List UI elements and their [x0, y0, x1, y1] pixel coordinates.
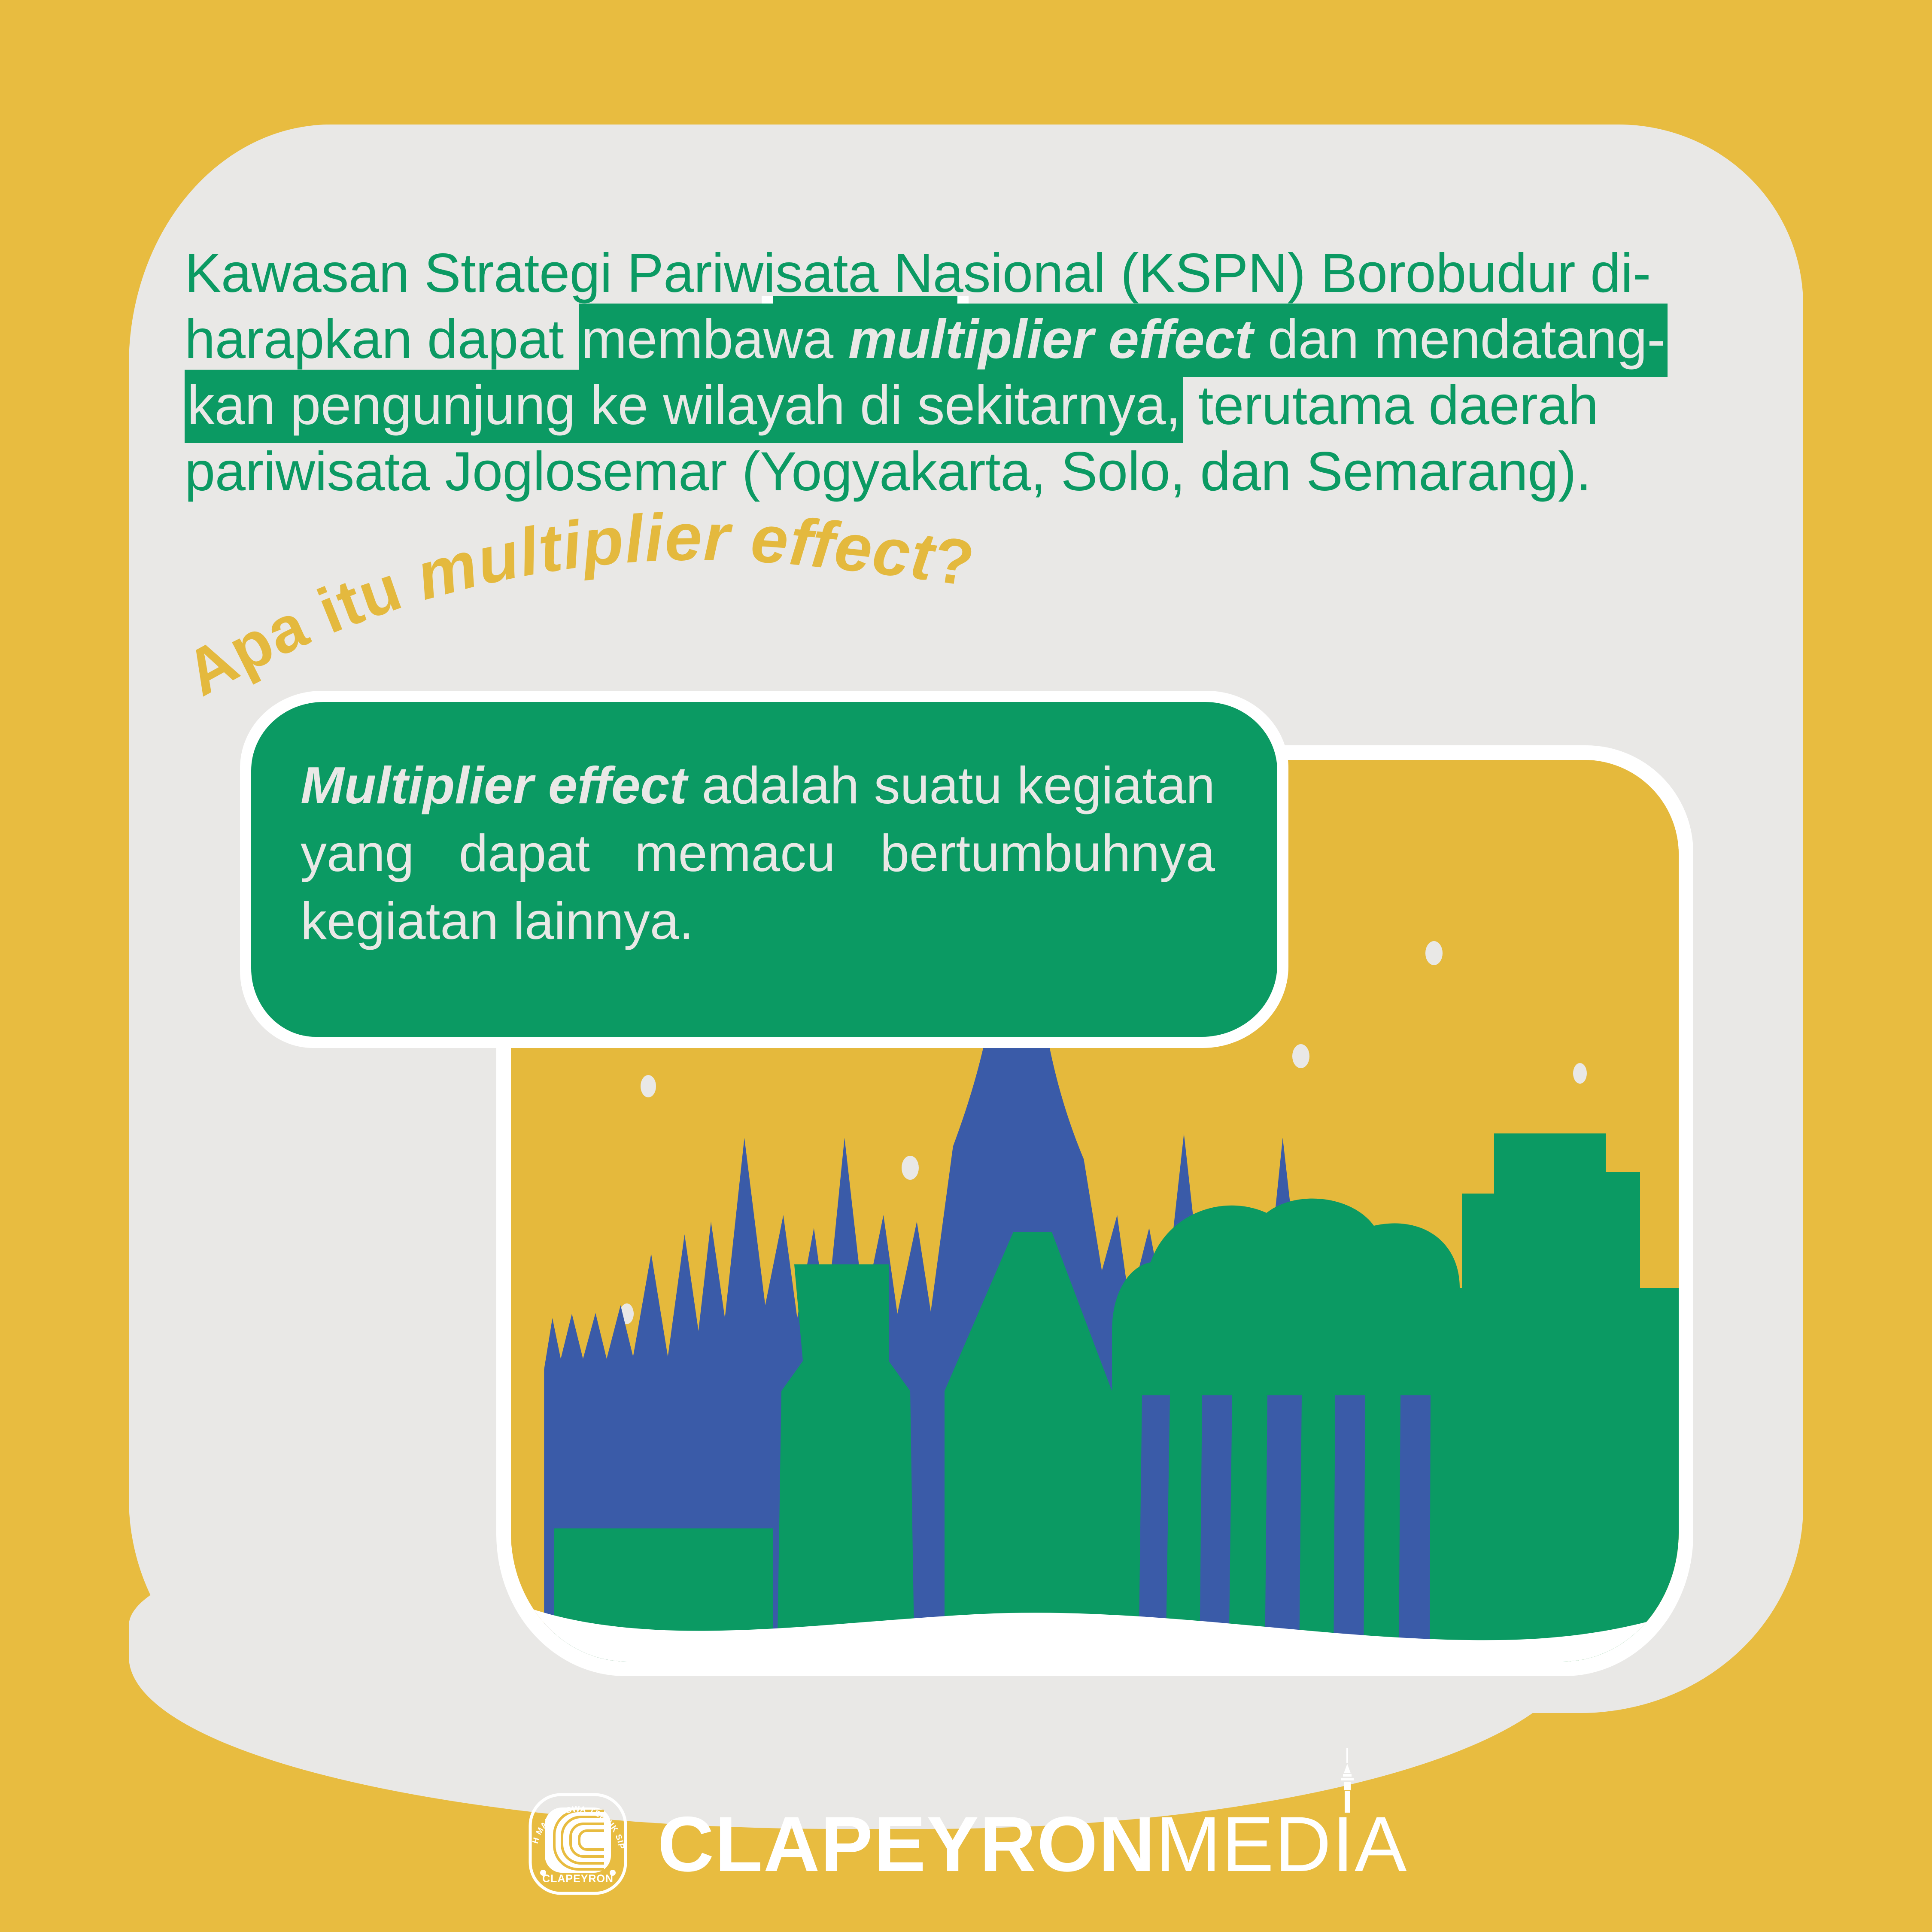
paragraph-line-2-plain: harapkan dapat — [185, 309, 579, 370]
definition-term: Multiplier effect — [301, 756, 687, 814]
highlight-term-italic: multiplier effect — [848, 309, 1253, 370]
paragraph-line-1: Kawasan Strategi Pariwisata Nasional (KS… — [185, 240, 1765, 307]
paragraph-line-4-text: pariwisata Joglosemar (Yogyakarta, Solo,… — [185, 441, 1591, 502]
paragraph-line-4: pariwisata Joglosemar (Yogyakarta, Solo,… — [185, 439, 1765, 505]
paragraph-line-1-text: Kawasan Strategi Pariwisata Nasional (KS… — [185, 243, 1651, 304]
highlight-text-b: dan mendatang- — [1253, 309, 1665, 370]
paragraph-line-3-highlight: kan pengunjung ke wilayah di sekitarnya, — [185, 370, 1183, 443]
clapeyron-badge-icon: MAJALAH MAHASISWA TEKNIK SIPIL UGM CLAPE… — [524, 1790, 632, 1898]
badge-dot-left — [540, 1870, 546, 1876]
badge-dot-right — [610, 1870, 616, 1876]
clapeyron-media-wordmark: CLAPEYRONMEDIA — [657, 1799, 1407, 1889]
intro-paragraph: Kawasan Strategi Pariwisata Nasional (KS… — [185, 240, 1765, 505]
star-dot — [1292, 1044, 1309, 1068]
wordmark-media: MEDIA — [1156, 1799, 1407, 1889]
paragraph-line-3: kan pengunjung ke wilayah di sekitarnya,… — [185, 373, 1765, 439]
star-dot — [641, 1075, 656, 1097]
star-dot — [1425, 941, 1443, 965]
paragraph-line-3-plain: terutama daerah — [1183, 375, 1598, 436]
star-dot — [1573, 1063, 1587, 1084]
infographic-poster: Kawasan Strategi Pariwisata Nasional (KS… — [0, 0, 1932, 1932]
paragraph-line-2: harapkan dapat membawa multiplier effect… — [185, 307, 1765, 373]
stupa-tower-icon — [1337, 1748, 1357, 1813]
highlight-text-a: membawa — [581, 309, 848, 370]
badge-bottom-text: CLAPEYRON — [542, 1873, 614, 1885]
definition-bubble-text: Multiplier effect adalah suatu kegiatan … — [301, 751, 1215, 955]
star-dot — [902, 1156, 919, 1180]
heading-plain: Apa itu — [173, 545, 428, 709]
paragraph-line-2-highlight: membawa multiplier effect dan mendatang- — [579, 304, 1668, 377]
wordmark-clapeyron: CLAPEYRON — [657, 1799, 1156, 1889]
question-heading: Apa itu multiplier effect? — [185, 539, 1344, 711]
footer-logo-bar: MAJALAH MAHASISWA TEKNIK SIPIL UGM CLAPE… — [0, 1773, 1932, 1915]
